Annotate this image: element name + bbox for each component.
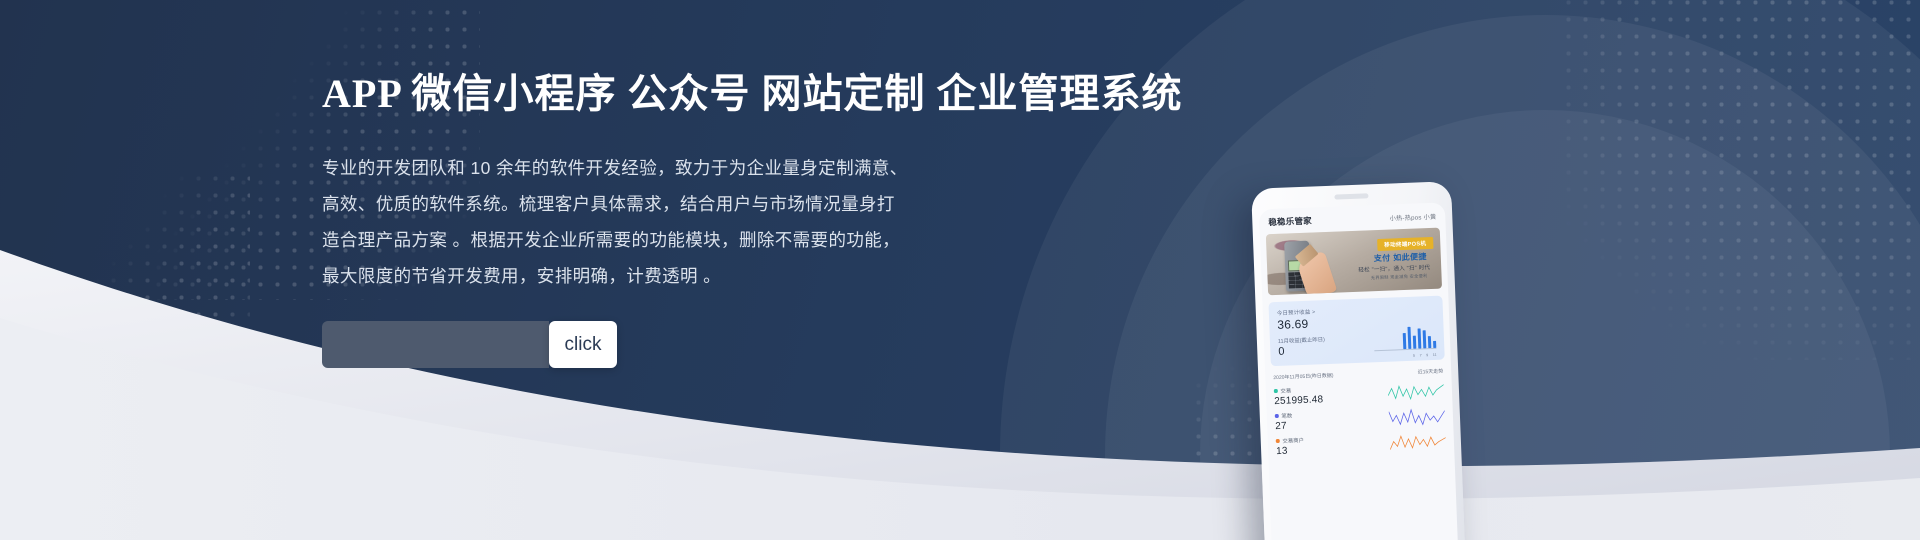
banner-badge: 移动终端POS机 — [1377, 237, 1434, 251]
bar-tick: 11 — [1433, 353, 1437, 357]
trend-value: 27 — [1275, 420, 1293, 432]
hero-banner: APP 微信小程序 公众号 网站定制 企业管理系统 专业的开发团队和 10 余年… — [0, 0, 1920, 540]
trend-info: 交易 251995.48 — [1274, 385, 1324, 407]
app-user-label: 小热-热pos 小黄 — [1389, 212, 1436, 223]
trend-name-row: 笔数 — [1275, 411, 1293, 420]
cta-group: click — [322, 321, 567, 368]
trend-info: 交易商户 13 — [1276, 436, 1305, 457]
trend-value: 13 — [1276, 445, 1305, 457]
trend-value: 251995.48 — [1274, 394, 1323, 407]
search-input[interactable] — [322, 321, 549, 368]
banner-headline: 支付 如此便捷 — [1374, 251, 1427, 264]
phone-mockup: 稳稳乐管家 小热-热pos 小黄 移动终端POS机 支付 如此便捷 轻松 "一扫… — [1251, 181, 1466, 540]
sparkline-chart — [1388, 381, 1445, 403]
status-dot-icon — [1275, 414, 1279, 418]
sparkline-chart — [1389, 406, 1446, 428]
click-button[interactable]: click — [549, 321, 617, 368]
description-line: 专业的开发团队和 10 余年的软件开发经验，致力于为企业量身定制满意、 — [322, 150, 1082, 186]
page-title: APP 微信小程序 公众号 网站定制 企业管理系统 — [322, 72, 1082, 116]
trend-label: 交易 — [1280, 386, 1291, 394]
status-dot-icon — [1274, 389, 1278, 393]
bar-tick: 9 — [1426, 353, 1428, 357]
app-title: 稳稳乐管家 — [1268, 215, 1312, 229]
promo-banner[interactable]: 移动终端POS机 支付 如此便捷 轻松 "一扫"，通入 "扫" 时代 无界限制 … — [1266, 228, 1442, 296]
bar-tick: 7 — [1420, 353, 1422, 357]
description-line: 造合理产品方案 。根据开发企业所需要的功能模块，删除不需要的功能， — [322, 222, 1082, 258]
earnings-card[interactable]: 今日预计收益 > 36.69 11月收益(截止昨日) 0 5 7 9 11 — [1268, 296, 1444, 367]
status-dot-icon — [1276, 439, 1280, 443]
description-line: 最大限度的节省开发费用，安排明确，计费透明 。 — [322, 258, 1082, 294]
sparkline-chart — [1390, 431, 1447, 453]
hero-copy: APP 微信小程序 公众号 网站定制 企业管理系统 专业的开发团队和 10 余年… — [322, 72, 1082, 294]
trend-label: 交易商户 — [1282, 436, 1304, 445]
bar-chart-ticks: 5 7 9 11 — [1413, 353, 1437, 358]
list-item[interactable]: 交易商户 13 — [1275, 427, 1446, 459]
trend-info: 笔数 27 — [1275, 411, 1293, 432]
hero-description: 专业的开发团队和 10 余年的软件开发经验，致力于为企业量身定制满意、 高效、优… — [322, 150, 1082, 294]
trend-label: 笔数 — [1281, 411, 1292, 419]
phone-screen: 稳稳乐管家 小热-热pos 小黄 移动终端POS机 支付 如此便捷 轻松 "一扫… — [1259, 202, 1459, 540]
description-line: 高效、优质的软件系统。梳理客户具体需求，结合用户与市场情况量身打 — [322, 186, 1082, 222]
trend-date-label: 2020年11月05日(昨日数据) — [1273, 372, 1333, 381]
monthly-bar-chart — [1402, 326, 1436, 349]
bar-tick: 5 — [1413, 354, 1415, 358]
trend-name-row: 交易商户 — [1276, 436, 1304, 445]
trend-range-label: 近15天走势 — [1418, 368, 1444, 376]
